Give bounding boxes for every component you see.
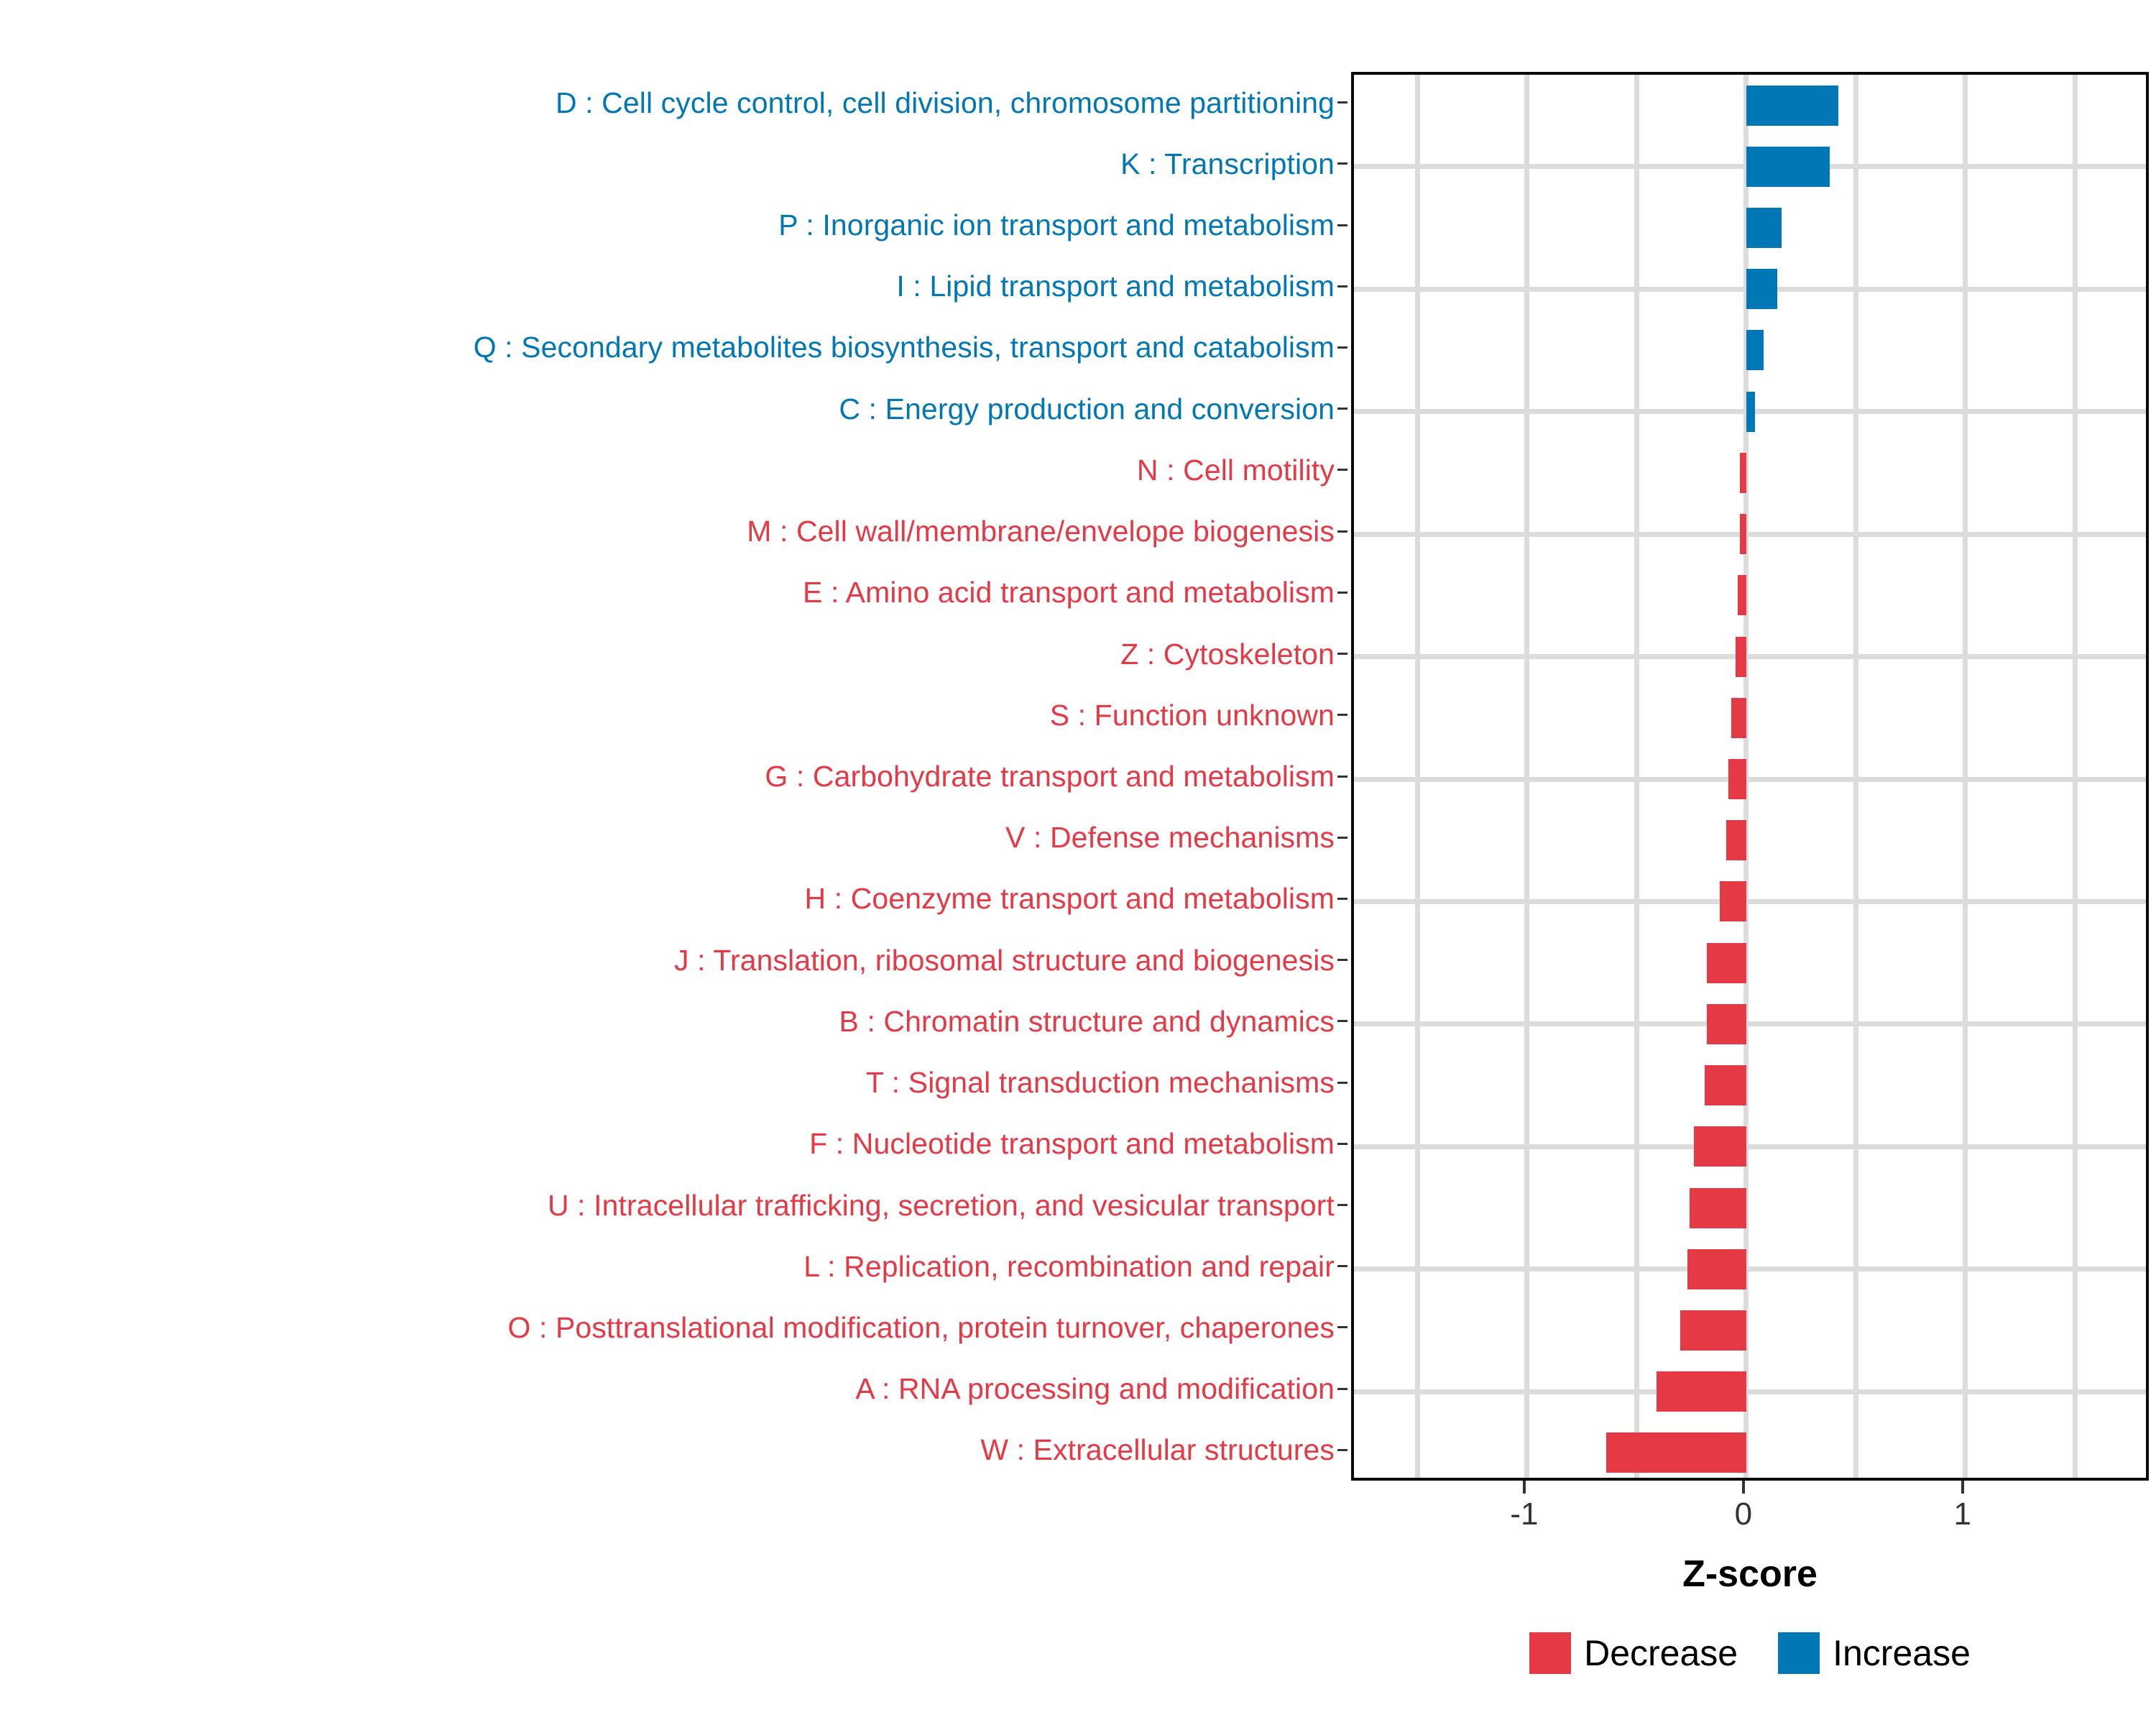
y-axis-tick-label-l: L : Replication, recombination and repai…: [803, 1251, 1335, 1282]
y-axis-tick-label-m: M : Cell wall/membrane/envelope biogenes…: [747, 515, 1335, 547]
y-axis-tick-label-b: B : Chromatin structure and dynamics: [839, 1006, 1335, 1037]
chart-figure: D : Cell cycle control, cell division, c…: [0, 0, 2156, 1725]
x-axis-tick-mark: [1523, 1481, 1526, 1494]
gridline-horizontal: [1354, 532, 2146, 537]
y-axis-tick-label-u: U : Intracellular trafficking, secretion…: [548, 1190, 1335, 1221]
y-axis-tick-mark: [1337, 776, 1347, 778]
y-axis-tick-label-a: A : RNA processing and modification: [855, 1373, 1335, 1404]
gridline-vertical: [1634, 75, 1639, 1478]
x-axis-tick-mark: [1961, 1481, 1964, 1494]
legend-label: Decrease: [1584, 1632, 1738, 1674]
y-axis-tick-label-c: C : Energy production and conversion: [839, 393, 1335, 425]
y-axis-tick-mark: [1337, 1449, 1347, 1451]
y-axis-tick-mark: [1337, 162, 1347, 165]
y-axis-tick-label-f: F : Nucleotide transport and metabolism: [809, 1128, 1335, 1159]
y-axis-tick-mark: [1337, 469, 1347, 471]
bar-n: [1740, 453, 1746, 493]
bar-a: [1657, 1371, 1746, 1412]
y-axis-tick-label-z: Z : Cytoskeleton: [1120, 638, 1335, 670]
gridline-vertical: [1853, 75, 1858, 1478]
y-axis-tick-label-d: D : Cell cycle control, cell division, c…: [556, 87, 1335, 119]
bar-s: [1731, 698, 1746, 738]
y-axis-tick-label-p: P : Inorganic ion transport and metaboli…: [778, 209, 1335, 241]
bar-g: [1728, 759, 1746, 799]
legend-item-increase: Increase: [1778, 1632, 1971, 1674]
bar-m: [1740, 514, 1746, 554]
y-axis-tick-mark: [1337, 285, 1347, 287]
y-axis-tick-label-e: E : Amino acid transport and metabolism: [803, 576, 1335, 608]
bar-f: [1694, 1126, 1746, 1167]
y-axis-tick-mark: [1337, 1326, 1347, 1328]
y-axis-tick-mark: [1337, 101, 1347, 103]
bar-l: [1687, 1249, 1746, 1289]
gridline-horizontal: [1354, 654, 2146, 659]
y-axis-tick-mark: [1337, 408, 1347, 410]
y-axis-tick-mark: [1337, 959, 1347, 961]
y-axis-tick-mark: [1337, 530, 1347, 533]
x-axis-title: Z-score: [1351, 1552, 2149, 1596]
y-axis-tick-mark: [1337, 898, 1347, 900]
y-axis-tick-mark: [1337, 592, 1347, 594]
bar-b: [1707, 1004, 1746, 1044]
y-axis-labels: D : Cell cycle control, cell division, c…: [0, 72, 1347, 1481]
legend-swatch-icon: [1778, 1632, 1820, 1674]
bar-h: [1720, 881, 1746, 921]
y-axis-tick-label-v: V : Defense mechanisms: [1005, 822, 1335, 853]
gridline-horizontal: [1354, 1021, 2146, 1026]
bar-w: [1606, 1432, 1746, 1473]
gridline-horizontal: [1354, 899, 2146, 904]
gridline-vertical: [2073, 75, 2078, 1478]
legend-label: Increase: [1833, 1632, 1971, 1674]
bar-p: [1746, 208, 1782, 248]
gridline-vertical: [1963, 75, 1968, 1478]
y-axis-tick-mark: [1337, 346, 1347, 349]
bar-u: [1690, 1188, 1746, 1228]
legend-swatch-icon: [1529, 1632, 1571, 1674]
y-axis-tick-label-h: H : Coenzyme transport and metabolism: [805, 883, 1335, 914]
y-axis-tick-mark: [1337, 1265, 1347, 1267]
bar-k: [1746, 147, 1830, 187]
y-axis-tick-mark: [1337, 1143, 1347, 1145]
y-axis-tick-mark: [1337, 653, 1347, 655]
y-axis-tick-mark: [1337, 837, 1347, 839]
bar-i: [1746, 269, 1777, 309]
y-axis-tick-label-n: N : Cell motility: [1137, 454, 1335, 486]
bar-j: [1707, 943, 1746, 983]
chart-legend: DecreaseIncrease: [1351, 1628, 2149, 1678]
bar-d: [1746, 86, 1838, 126]
y-axis-tick-label-o: O : Posttranslational modification, prot…: [508, 1312, 1335, 1343]
y-axis-tick-label-t: T : Signal transduction mechanisms: [866, 1067, 1335, 1098]
gridline-vertical: [1415, 75, 1420, 1478]
x-axis-tick-label: -1: [1510, 1496, 1538, 1532]
bar-z: [1736, 637, 1746, 677]
gridline-horizontal: [1354, 1266, 2146, 1271]
gridline-vertical: [1524, 75, 1529, 1478]
y-axis-tick-label-j: J : Translation, ribosomal structure and…: [674, 944, 1335, 976]
y-axis-tick-label-g: G : Carbohydrate transport and metabolis…: [765, 760, 1335, 792]
y-axis-tick-mark: [1337, 1204, 1347, 1206]
plot-panel: [1351, 72, 2149, 1481]
y-axis-tick-label-s: S : Function unknown: [1050, 699, 1335, 731]
bar-o: [1680, 1310, 1746, 1351]
gridline-horizontal: [1354, 1144, 2146, 1149]
y-axis-tick-label-w: W : Extracellular structures: [980, 1434, 1335, 1466]
bar-q: [1746, 330, 1764, 370]
y-axis-tick-mark: [1337, 714, 1347, 716]
x-axis-tick-label: 0: [1735, 1496, 1752, 1532]
y-axis-tick-label-i: I : Lipid transport and metabolism: [896, 270, 1335, 302]
y-axis-tick-label-k: K : Transcription: [1120, 148, 1335, 180]
x-axis-tick-label: 1: [1954, 1496, 1971, 1532]
legend-item-decrease: Decrease: [1529, 1632, 1738, 1674]
y-axis-tick-mark: [1337, 1388, 1347, 1390]
bar-t: [1705, 1065, 1746, 1105]
gridline-horizontal: [1354, 777, 2146, 782]
y-axis-tick-label-q: Q : Secondary metabolites biosynthesis, …: [474, 331, 1335, 363]
x-axis-tick-mark: [1742, 1481, 1745, 1494]
y-axis-tick-mark: [1337, 1020, 1347, 1022]
bar-v: [1726, 820, 1746, 860]
gridline-horizontal: [1354, 1389, 2146, 1394]
bar-e: [1738, 575, 1746, 615]
bar-c: [1746, 392, 1755, 432]
y-axis-tick-mark: [1337, 224, 1347, 226]
y-axis-tick-mark: [1337, 1082, 1347, 1084]
